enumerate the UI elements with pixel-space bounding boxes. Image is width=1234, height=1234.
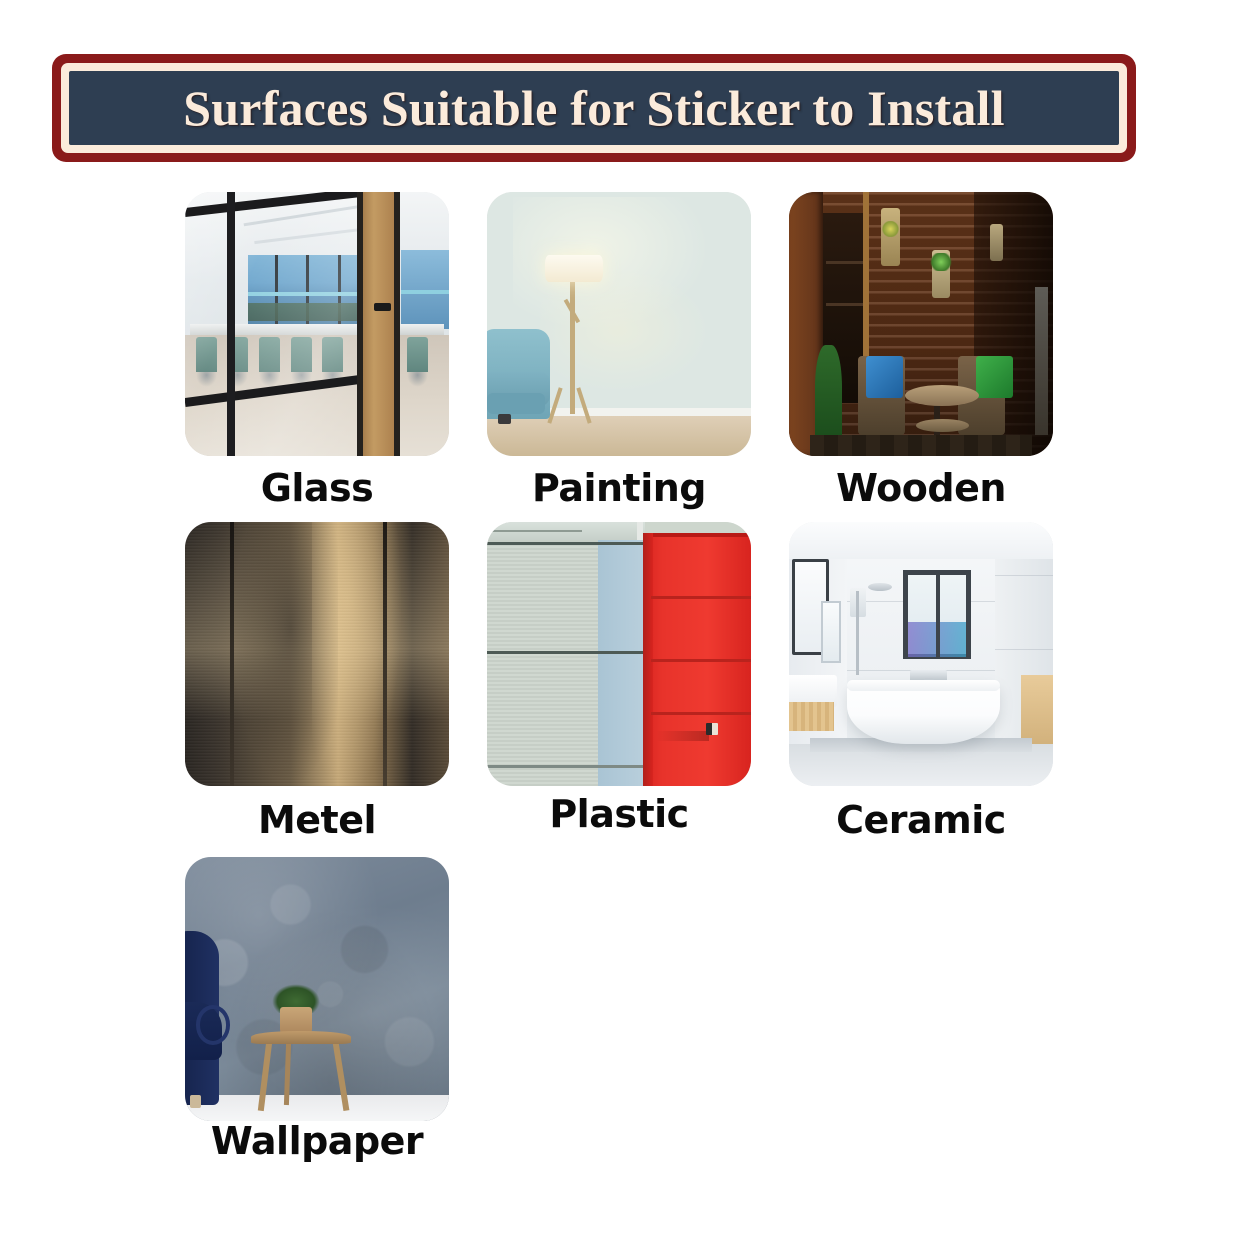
surface-caption-ceramic: Ceramic [789, 798, 1053, 842]
textured-blue-wall-photo [185, 857, 449, 1121]
page-title: Surfaces Suitable for Sticker to Install [183, 79, 1004, 137]
office-glass-partition-photo [185, 192, 449, 456]
surface-caption-wallpaper: Wallpaper [185, 1119, 449, 1163]
surface-tile-metel[interactable] [185, 522, 449, 786]
surfaces-infographic: Surfaces Suitable for Sticker to Install [0, 0, 1234, 1234]
brushed-bronze-metal-panels-photo [185, 522, 449, 786]
surface-caption-wooden: Wooden [789, 466, 1053, 510]
surface-tile-plastic[interactable] [487, 522, 751, 786]
surface-caption-metel: Metel [185, 798, 449, 842]
surface-tile-ceramic[interactable] [789, 522, 1053, 786]
surface-tile-glass[interactable] [185, 192, 449, 456]
header-banner-inner-border: Surfaces Suitable for Sticker to Install [61, 63, 1127, 153]
header-banner: Surfaces Suitable for Sticker to Install [52, 54, 1136, 162]
surface-tile-painting[interactable] [487, 192, 751, 456]
surface-caption-plastic: Plastic [487, 792, 751, 836]
surface-caption-painting: Painting [487, 466, 751, 510]
white-tiled-bathroom-photo [789, 522, 1053, 786]
painted-wall-floor-lamp-photo [487, 192, 751, 456]
wood-panelled-porch-photo [789, 192, 1053, 456]
surface-tile-wooden[interactable] [789, 192, 1053, 456]
plastic-cabinet-panels-photo [487, 522, 751, 786]
header-banner-core: Surfaces Suitable for Sticker to Install [69, 71, 1119, 145]
surface-caption-glass: Glass [185, 466, 449, 510]
surface-tile-wallpaper[interactable] [185, 857, 449, 1121]
